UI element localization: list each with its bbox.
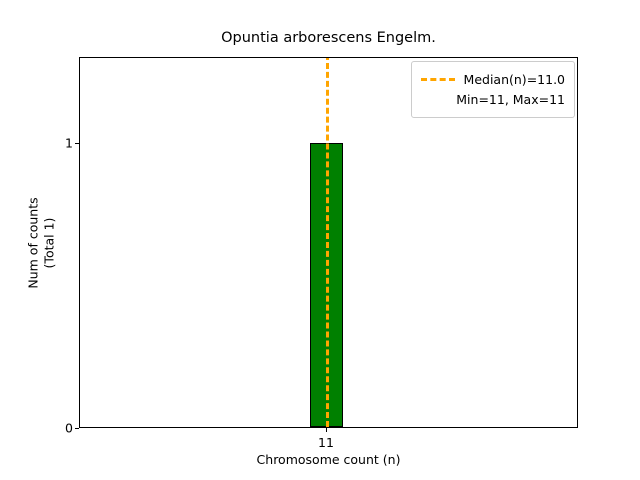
plot-area: Median(n)=11.0 Min=11, Max=11 (80, 58, 577, 427)
x-axis-label: Chromosome count (n) (79, 452, 578, 467)
plot-axes: Median(n)=11.0 Min=11, Max=11 (79, 57, 578, 428)
y-axis-label-line2: (Total 1) (41, 197, 57, 288)
legend-label-minmax: Min=11, Max=11 (456, 92, 565, 107)
legend-label-median: Median(n)=11.0 (464, 72, 565, 87)
dashed-line-icon (421, 73, 455, 85)
y-tick-label-1: 1 (65, 136, 73, 151)
median-line (326, 58, 329, 427)
y-axis-label-wrap: Num of counts (Total 1) (18, 57, 64, 428)
legend-entry-minmax: Min=11, Max=11 (421, 89, 565, 109)
y-tick-mark-0 (75, 428, 79, 429)
page-title: Opuntia arborescens Engelm. (79, 30, 578, 46)
y-axis-label-line1: Num of counts (25, 197, 41, 288)
y-axis-label: Num of counts (Total 1) (25, 197, 56, 288)
legend[interactable]: Median(n)=11.0 Min=11, Max=11 (411, 61, 575, 118)
x-tick-mark-11 (326, 428, 327, 432)
legend-entry-median: Median(n)=11.0 (421, 69, 565, 89)
chart-figure: Opuntia arborescens Engelm. Num of count… (0, 0, 640, 480)
x-tick-label-11: 11 (318, 435, 334, 450)
y-tick-label-0: 0 (65, 421, 73, 436)
